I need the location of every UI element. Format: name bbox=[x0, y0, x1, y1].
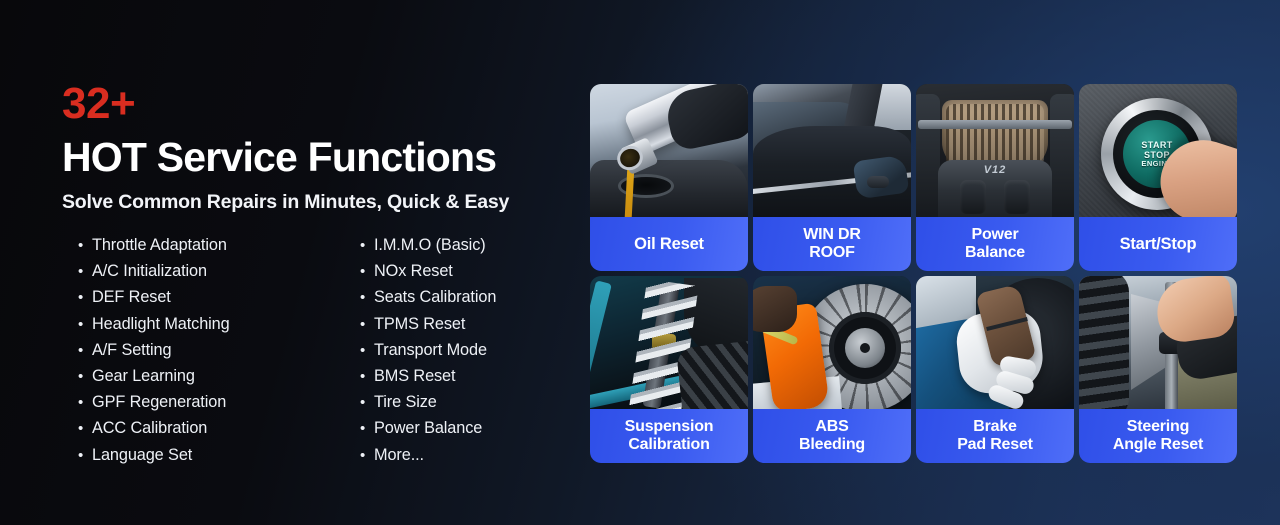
service-card-label: Steering Angle Reset bbox=[1079, 409, 1237, 463]
service-card-suspension-calibration[interactable]: Suspension Calibration bbox=[590, 276, 748, 463]
list-item-label: GPF Regeneration bbox=[92, 393, 226, 412]
power-balance-photo: V12 bbox=[916, 84, 1074, 222]
bullet-icon: • bbox=[78, 264, 92, 279]
bullet-icon: • bbox=[360, 369, 374, 384]
service-card-label: Brake Pad Reset bbox=[916, 409, 1074, 463]
feature-list: • Throttle Adaptation • A/C Initializati… bbox=[78, 236, 590, 472]
service-card-label: WIN DR ROOF bbox=[753, 217, 911, 271]
brake-pad-reset-photo bbox=[916, 276, 1074, 414]
list-item: • Power Balance bbox=[360, 419, 590, 445]
list-item: • BMS Reset bbox=[360, 367, 590, 393]
service-card-brake-pad-reset[interactable]: Brake Pad Reset bbox=[916, 276, 1074, 463]
list-item-label: A/C Initialization bbox=[92, 262, 207, 281]
start-stop-photo: START STOP ENGINE bbox=[1079, 84, 1237, 222]
list-item-label: ACC Calibration bbox=[92, 419, 207, 438]
list-item-label: Transport Mode bbox=[374, 341, 487, 360]
bullet-icon: • bbox=[360, 448, 374, 463]
feature-column-1: • Throttle Adaptation • A/C Initializati… bbox=[78, 236, 360, 472]
list-item-label: DEF Reset bbox=[92, 288, 171, 307]
list-item: • Throttle Adaptation bbox=[78, 236, 360, 262]
list-item-label: Language Set bbox=[92, 446, 192, 465]
bullet-icon: • bbox=[360, 343, 374, 358]
list-item: • Tire Size bbox=[360, 393, 590, 419]
service-card-oil-reset[interactable]: Oil Reset bbox=[590, 84, 748, 271]
list-item-label: BMS Reset bbox=[374, 367, 455, 386]
feature-column-2: • I.M.M.O (Basic) • NOx Reset • Seats Ca… bbox=[360, 236, 590, 472]
list-item: • I.M.M.O (Basic) bbox=[360, 236, 590, 262]
list-item-label: A/F Setting bbox=[92, 341, 171, 360]
list-item: • Transport Mode bbox=[360, 341, 590, 367]
list-item-label: Power Balance bbox=[374, 419, 482, 438]
list-item: • NOx Reset bbox=[360, 262, 590, 288]
headline-block: 32+ HOT Service Functions Solve Common R… bbox=[62, 82, 582, 214]
service-card-abs-bleeding[interactable]: ABS Bleeding bbox=[753, 276, 911, 463]
list-item-label: Tire Size bbox=[374, 393, 437, 412]
page-subtitle: Solve Common Repairs in Minutes, Quick &… bbox=[62, 191, 582, 214]
bullet-icon: • bbox=[78, 448, 92, 463]
list-item-label: Throttle Adaptation bbox=[92, 236, 227, 255]
oil-reset-photo bbox=[590, 84, 748, 222]
promo-banner: 32+ HOT Service Functions Solve Common R… bbox=[0, 0, 1280, 525]
list-item: • TPMS Reset bbox=[360, 315, 590, 341]
list-item-label: Headlight Matching bbox=[92, 315, 230, 334]
bullet-icon: • bbox=[78, 343, 92, 358]
service-card-start-stop[interactable]: START STOP ENGINE Start/Stop bbox=[1079, 84, 1237, 271]
service-card-label: ABS Bleeding bbox=[753, 409, 911, 463]
bullet-icon: • bbox=[78, 317, 92, 332]
service-card-label: Start/Stop bbox=[1079, 217, 1237, 271]
list-item: • Language Set bbox=[78, 446, 360, 472]
list-item: • Seats Calibration bbox=[360, 288, 590, 314]
list-item-label: TPMS Reset bbox=[374, 315, 465, 334]
bullet-icon: • bbox=[78, 238, 92, 253]
list-item: • DEF Reset bbox=[78, 288, 360, 314]
service-card-steering-angle-reset[interactable]: Steering Angle Reset bbox=[1079, 276, 1237, 463]
list-item-label: NOx Reset bbox=[374, 262, 453, 281]
list-item-label: Gear Learning bbox=[92, 367, 195, 386]
list-item: • A/F Setting bbox=[78, 341, 360, 367]
bullet-icon: • bbox=[360, 238, 374, 253]
steering-angle-reset-photo bbox=[1079, 276, 1237, 414]
list-item: • Headlight Matching bbox=[78, 315, 360, 341]
bullet-icon: • bbox=[78, 395, 92, 410]
bullet-icon: • bbox=[360, 421, 374, 436]
list-item: • GPF Regeneration bbox=[78, 393, 360, 419]
bullet-icon: • bbox=[78, 369, 92, 384]
page-title: HOT Service Functions bbox=[62, 136, 582, 179]
bullet-icon: • bbox=[78, 421, 92, 436]
list-item-label: More... bbox=[374, 446, 424, 465]
win-dr-roof-photo bbox=[753, 84, 911, 222]
start-label: START bbox=[1141, 140, 1172, 150]
bullet-icon: • bbox=[360, 317, 374, 332]
service-card-grid: Oil Reset WIN DR ROOF bbox=[590, 84, 1237, 463]
bullet-icon: • bbox=[78, 290, 92, 305]
service-card-win-dr-roof[interactable]: WIN DR ROOF bbox=[753, 84, 911, 271]
abs-bleeding-photo bbox=[753, 276, 911, 414]
bullet-icon: • bbox=[360, 264, 374, 279]
suspension-calibration-photo bbox=[590, 276, 748, 414]
bullet-icon: • bbox=[360, 290, 374, 305]
list-item: • ACC Calibration bbox=[78, 419, 360, 445]
service-card-label: Power Balance bbox=[916, 217, 1074, 271]
list-item: • Gear Learning bbox=[78, 367, 360, 393]
list-item-label: I.M.M.O (Basic) bbox=[374, 236, 486, 255]
list-item: • A/C Initialization bbox=[78, 262, 360, 288]
list-item-label: Seats Calibration bbox=[374, 288, 496, 307]
bullet-icon: • bbox=[360, 395, 374, 410]
service-card-label: Oil Reset bbox=[590, 217, 748, 271]
service-card-label: Suspension Calibration bbox=[590, 409, 748, 463]
list-item: • More... bbox=[360, 446, 590, 472]
function-count-badge: 32+ bbox=[62, 82, 582, 126]
service-card-power-balance[interactable]: V12 Power Balance bbox=[916, 84, 1074, 271]
engine-badge-label: V12 bbox=[916, 164, 1074, 176]
